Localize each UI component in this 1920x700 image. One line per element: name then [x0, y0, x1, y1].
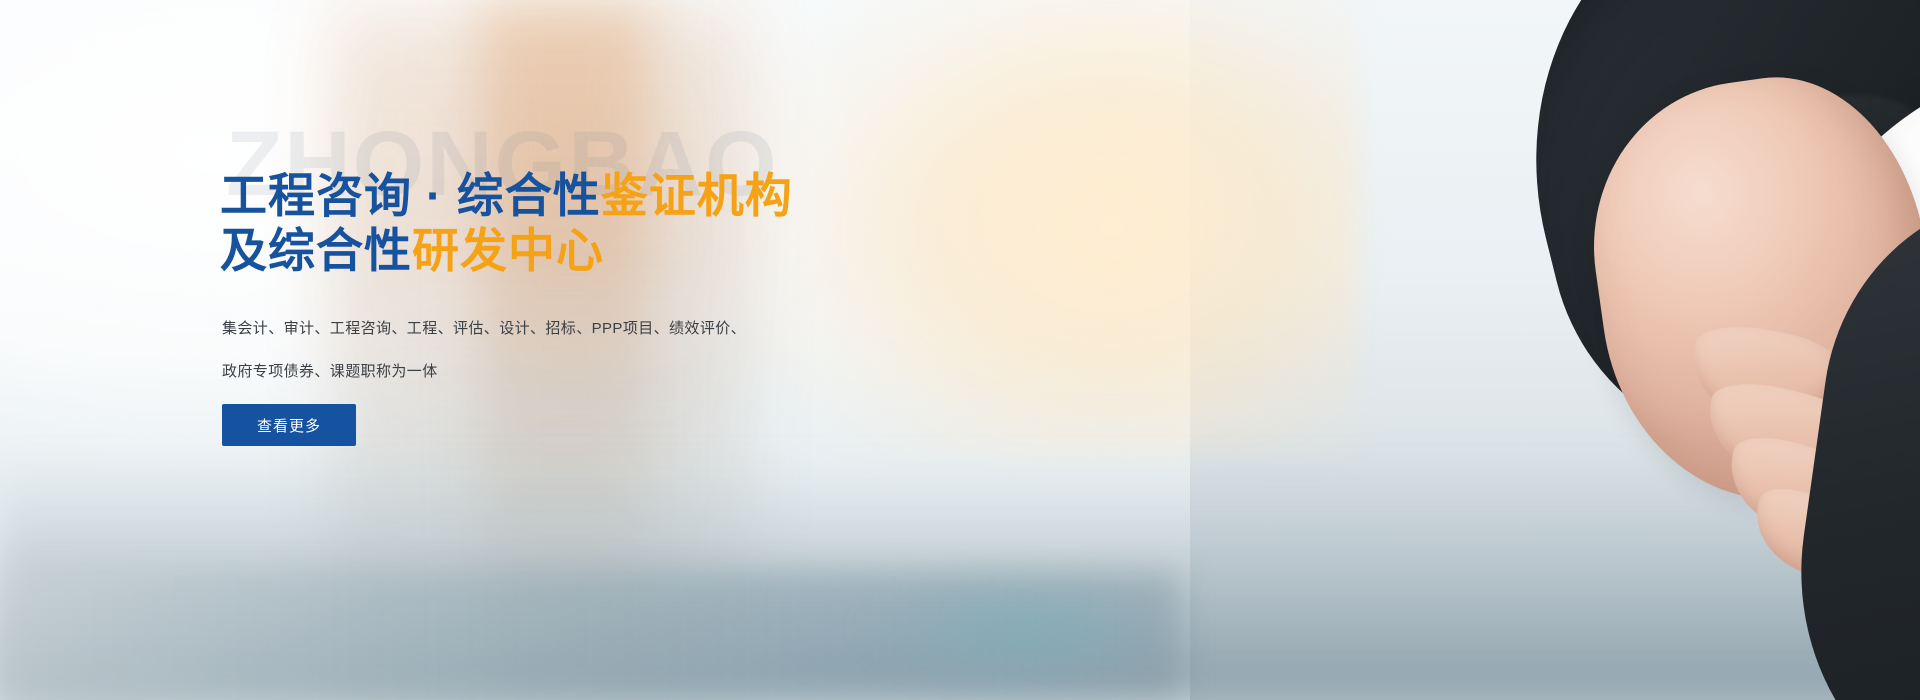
headline-line-1-accent: 鉴证机构 — [601, 169, 793, 222]
view-more-button[interactable]: 查看更多 — [222, 404, 356, 446]
headline-line-2-accent: 研发中心 — [412, 224, 604, 277]
headline-line-1-primary: 工程咨询 · 综合性 — [220, 169, 601, 222]
headline-line-2: 及综合性研发中心 — [220, 223, 793, 278]
hero-description-line-2: 政府专项债券、课题职称为一体 — [222, 351, 822, 394]
headline-line-1: 工程咨询 · 综合性鉴证机构 — [220, 168, 793, 223]
hero-content: ZHONGBAO 工程咨询 · 综合性鉴证机构 及综合性研发中心 集会计、审计、… — [220, 0, 980, 700]
headline-line-2-primary: 及综合性 — [220, 224, 412, 277]
hero-banner: 中宝工程管理 ZHONGBAO 工程咨询 · 综合性鉴证机构 — [0, 0, 1920, 700]
hero-description-line-1: 集会计、审计、工程咨询、工程、评估、设计、招标、PPP项目、绩效评价、 — [222, 320, 746, 337]
hero-description: 集会计、审计、工程咨询、工程、评估、设计、招标、PPP项目、绩效评价、 政府专项… — [222, 308, 822, 394]
hero-headline: 工程咨询 · 综合性鉴证机构 及综合性研发中心 — [220, 168, 793, 279]
